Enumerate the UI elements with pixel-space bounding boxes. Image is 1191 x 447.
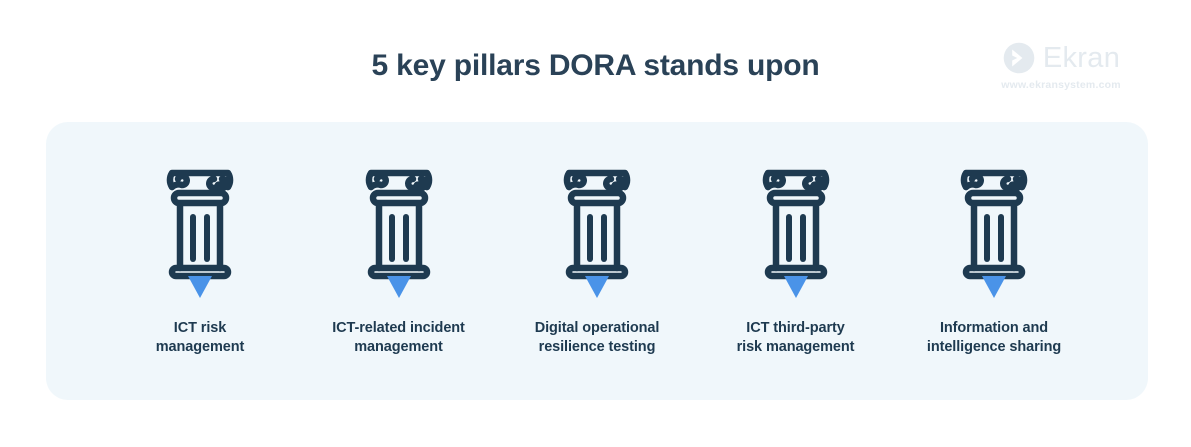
pillar-item: ICT-related incident management bbox=[301, 122, 497, 357]
pillar-label: Digital operational resilience testing bbox=[535, 319, 660, 357]
blue-triangle bbox=[982, 276, 1006, 298]
pillar-label: Information and intelligence sharing bbox=[927, 319, 1061, 357]
ekran-logo: Ekran www.ekransystem.com bbox=[986, 40, 1136, 91]
brand-name: Ekran bbox=[1043, 44, 1120, 73]
blue-triangle bbox=[585, 276, 609, 298]
pillar-label: ICT risk management bbox=[156, 319, 244, 357]
greek-pillar-icon bbox=[549, 165, 645, 305]
pillar-item: ICT third-party risk management bbox=[698, 122, 894, 357]
blue-triangle bbox=[784, 276, 808, 298]
greek-pillar-icon bbox=[351, 165, 447, 305]
pillar-item: Digital operational resilience testing bbox=[499, 122, 695, 357]
pillar-label: ICT-related incident management bbox=[332, 319, 465, 357]
ekran-chevron-circle-icon bbox=[1002, 41, 1036, 75]
blue-triangle bbox=[188, 276, 212, 298]
greek-pillar-icon bbox=[946, 165, 1042, 305]
pillar-item: ICT risk management bbox=[102, 122, 298, 357]
brand-row: Ekran bbox=[986, 40, 1136, 76]
greek-pillar-icon bbox=[152, 165, 248, 305]
pillar-item: Information and intelligence sharing bbox=[896, 122, 1092, 357]
blue-triangle bbox=[387, 276, 411, 298]
pillar-label: ICT third-party risk management bbox=[737, 319, 855, 357]
dora-pillars-infographic: 5 key pillars DORA stands upon Ekran www… bbox=[0, 0, 1191, 447]
pillars-list: ICT risk management ICT-related incide bbox=[46, 122, 1148, 400]
brand-url: www.ekransystem.com bbox=[986, 79, 1136, 91]
greek-pillar-icon bbox=[748, 165, 844, 305]
